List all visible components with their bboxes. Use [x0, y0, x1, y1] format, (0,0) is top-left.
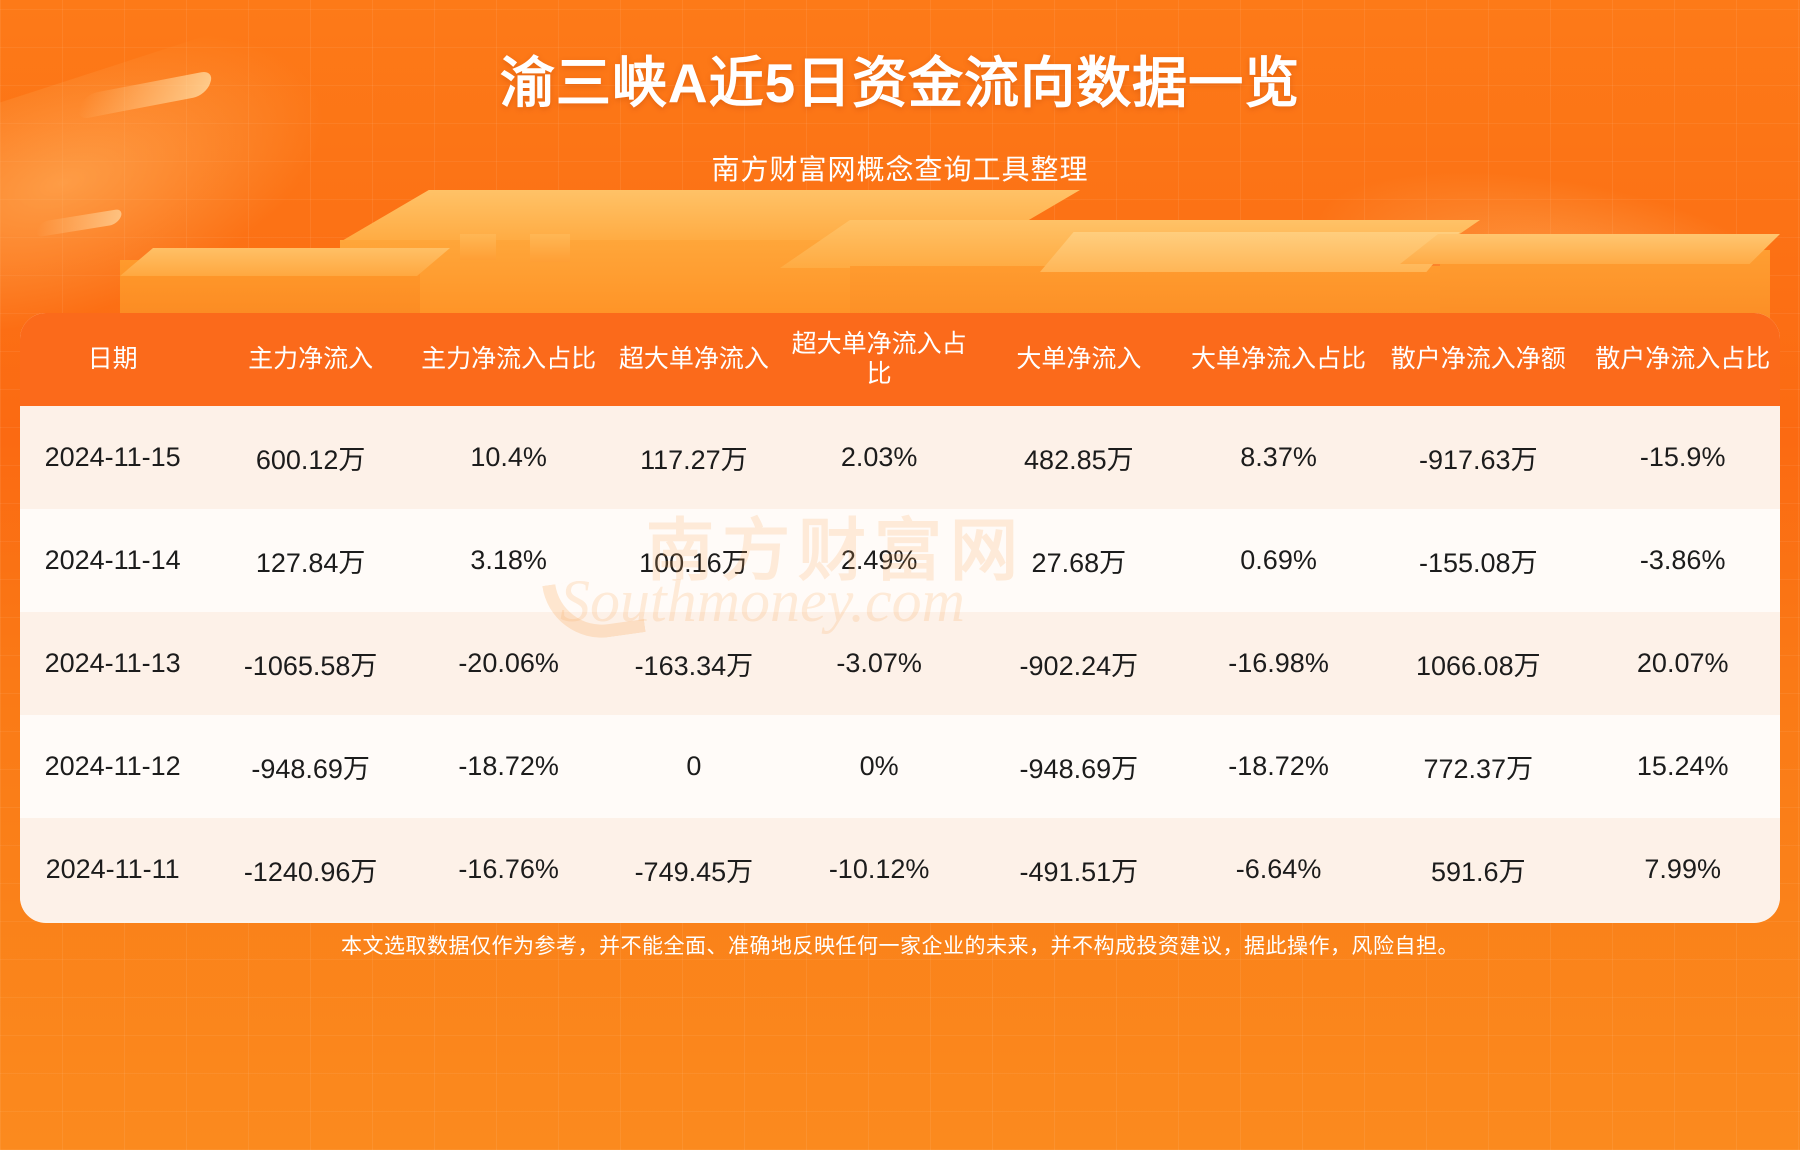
data-card: 日期 主力净流入 主力净流入占比 超大单净流入 超大单净流入占比 大单净流入 大…: [20, 313, 1780, 923]
cell-retail-pct: -3.86%: [1585, 509, 1780, 612]
column-header-retail-net: 散户净流入净额: [1371, 313, 1585, 406]
cell-retail-pct: 7.99%: [1585, 818, 1780, 921]
cell-retail-net: -155.08万: [1371, 509, 1585, 612]
cell-big-net: 482.85万: [972, 406, 1186, 509]
cell-main-pct: 10.4%: [416, 406, 601, 509]
cell-retail-net: 1066.08万: [1371, 612, 1585, 715]
cell-xl-pct: 2.03%: [786, 406, 971, 509]
cell-big-pct: -16.98%: [1186, 612, 1371, 715]
table-row: 2024-11-14 127.84万 3.18% 100.16万 2.49% 2…: [20, 509, 1780, 612]
cell-main-pct: -20.06%: [416, 612, 601, 715]
cell-xl-net: 0: [601, 715, 786, 818]
cell-xl-net: -749.45万: [601, 818, 786, 921]
cell-xl-net: -163.34万: [601, 612, 786, 715]
cell-retail-pct: -15.9%: [1585, 406, 1780, 509]
cell-main-pct: 3.18%: [416, 509, 601, 612]
column-header-main-net: 主力净流入: [205, 313, 416, 406]
cell-big-pct: -6.64%: [1186, 818, 1371, 921]
cell-big-pct: 0.69%: [1186, 509, 1371, 612]
cell-main-net: 127.84万: [205, 509, 416, 612]
table-header-row: 日期 主力净流入 主力净流入占比 超大单净流入 超大单净流入占比 大单净流入 大…: [20, 313, 1780, 406]
cell-xl-pct: 0%: [786, 715, 971, 818]
cell-xl-net: 100.16万: [601, 509, 786, 612]
cell-date: 2024-11-15: [20, 406, 205, 509]
cell-big-net: -902.24万: [972, 612, 1186, 715]
cell-xl-pct: 2.49%: [786, 509, 971, 612]
cell-retail-pct: 15.24%: [1585, 715, 1780, 818]
column-header-big-net: 大单净流入: [972, 313, 1186, 406]
column-header-xl-net: 超大单净流入: [601, 313, 786, 406]
cell-main-net: -1065.58万: [205, 612, 416, 715]
cell-main-net: -948.69万: [205, 715, 416, 818]
column-header-date: 日期: [20, 313, 205, 406]
page-subtitle: 南方财富网概念查询工具整理: [0, 148, 1800, 188]
cell-big-pct: 8.37%: [1186, 406, 1371, 509]
cell-big-net: -491.51万: [972, 818, 1186, 921]
fund-flow-table: 日期 主力净流入 主力净流入占比 超大单净流入 超大单净流入占比 大单净流入 大…: [20, 313, 1780, 921]
cell-retail-net: -917.63万: [1371, 406, 1585, 509]
table-row: 2024-11-15 600.12万 10.4% 117.27万 2.03% 4…: [20, 406, 1780, 509]
cell-main-pct: -18.72%: [416, 715, 601, 818]
cell-big-net: 27.68万: [972, 509, 1186, 612]
cell-retail-pct: 20.07%: [1585, 612, 1780, 715]
table-row: 2024-11-12 -948.69万 -18.72% 0 0% -948.69…: [20, 715, 1780, 818]
table-row: 2024-11-11 -1240.96万 -16.76% -749.45万 -1…: [20, 818, 1780, 921]
cell-date: 2024-11-14: [20, 509, 205, 612]
cell-main-pct: -16.76%: [416, 818, 601, 921]
cell-xl-net: 117.27万: [601, 406, 786, 509]
cell-retail-net: 591.6万: [1371, 818, 1585, 921]
table-body: 2024-11-15 600.12万 10.4% 117.27万 2.03% 4…: [20, 406, 1780, 921]
cell-big-net: -948.69万: [972, 715, 1186, 818]
column-header-xl-pct: 超大单净流入占比: [786, 313, 971, 406]
cell-date: 2024-11-13: [20, 612, 205, 715]
page-title: 渝三峡A近5日资金流向数据一览: [0, 38, 1800, 118]
cell-main-net: -1240.96万: [205, 818, 416, 921]
cell-xl-pct: -10.12%: [786, 818, 971, 921]
cell-retail-net: 772.37万: [1371, 715, 1585, 818]
cell-big-pct: -18.72%: [1186, 715, 1371, 818]
column-header-main-pct: 主力净流入占比: [416, 313, 601, 406]
table-row: 2024-11-13 -1065.58万 -20.06% -163.34万 -3…: [20, 612, 1780, 715]
column-header-big-pct: 大单净流入占比: [1186, 313, 1371, 406]
disclaimer-text: 本文选取数据仅作为参考，并不能全面、准确地反映任何一家企业的未来，并不构成投资建…: [0, 930, 1800, 960]
cell-date: 2024-11-12: [20, 715, 205, 818]
cell-xl-pct: -3.07%: [786, 612, 971, 715]
cell-main-net: 600.12万: [205, 406, 416, 509]
cell-date: 2024-11-11: [20, 818, 205, 921]
column-header-retail-pct: 散户净流入占比: [1585, 313, 1780, 406]
table-header: 日期 主力净流入 主力净流入占比 超大单净流入 超大单净流入占比 大单净流入 大…: [20, 313, 1780, 406]
